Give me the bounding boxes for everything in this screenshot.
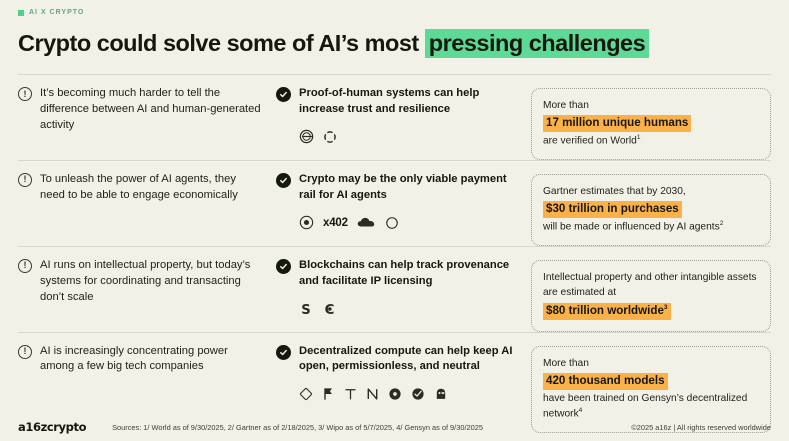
problem-cell: ! It’s becoming much harder to tell the … bbox=[18, 86, 276, 134]
eyebrow-dot-icon bbox=[18, 10, 24, 16]
eyebrow-label: AI X CRYPTO bbox=[29, 9, 84, 16]
infographic-page: AI X CRYPTO Crypto could solve some of A… bbox=[0, 0, 789, 441]
coinbase-icon bbox=[299, 215, 314, 230]
stat-footnote: 3 bbox=[664, 304, 668, 311]
stat-post-text: will be made or influenced by AI agents bbox=[543, 222, 720, 233]
stat-pre: Gartner estimates that by 2030, bbox=[543, 184, 759, 199]
table-row: ! AI runs on intellectual property, but … bbox=[18, 246, 771, 332]
svg-text:S: S bbox=[301, 303, 310, 317]
check-icon bbox=[276, 173, 291, 188]
logo-strip bbox=[299, 127, 521, 147]
table-row: ! To unleash the power of AI agents, the… bbox=[18, 160, 771, 246]
stat-cell: More than 17 million unique humans are v… bbox=[531, 86, 771, 160]
robot-icon bbox=[434, 387, 448, 401]
table-row: ! It’s becoming much harder to tell the … bbox=[18, 74, 771, 160]
stat-highlight-text: $80 trillion worldwide bbox=[546, 304, 664, 317]
problem-text: It’s becoming much harder to tell the di… bbox=[40, 86, 262, 134]
stat-highlight: $80 trillion worldwide3 bbox=[543, 303, 671, 320]
humanity-protocol-icon bbox=[323, 130, 337, 144]
table-row: ! AI is increasingly concentrating power… bbox=[18, 332, 771, 433]
solution-text: Decentralized compute can help keep AI o… bbox=[299, 344, 521, 376]
stat-card: Gartner estimates that by 2030, $30 tril… bbox=[531, 174, 771, 246]
solution-cell: Decentralized compute can help keep AI o… bbox=[276, 344, 531, 405]
solution-text: Proof-of-human systems can help increase… bbox=[299, 86, 521, 118]
copyright-note: ©2025 a16z | All rights reserved worldwi… bbox=[631, 423, 771, 432]
problem-cell: ! AI is increasingly concentrating power… bbox=[18, 344, 276, 376]
stat-highlight: $30 trillion in purchases bbox=[543, 201, 682, 218]
problem-cell: ! To unleash the power of AI agents, the… bbox=[18, 172, 276, 204]
solution-cell: Crypto may be the only viable payment ra… bbox=[276, 172, 531, 233]
stat-post-text: have been trained on Gensyn’s decentrali… bbox=[543, 393, 747, 420]
solution-cell: Blockchains can help track provenance an… bbox=[276, 258, 531, 319]
stat-card: More than 17 million unique humans are v… bbox=[531, 88, 771, 160]
headline-plain: Crypto could solve some of AI’s most bbox=[18, 30, 425, 56]
camp-network-icon: C bbox=[322, 301, 337, 317]
flag-icon bbox=[322, 387, 335, 401]
alert-icon: ! bbox=[18, 345, 32, 359]
footer: a16zcrypto Sources: 1/ World as of 9/30/… bbox=[18, 420, 771, 434]
stat-post: are verified on World1 bbox=[543, 133, 759, 149]
rows-container: ! It’s becoming much harder to tell the … bbox=[18, 74, 771, 433]
stat-cell: Intellectual property and other intangib… bbox=[531, 258, 771, 332]
solution-text: Blockchains can help track provenance an… bbox=[299, 258, 521, 290]
problem-text: AI is increasingly concentrating power a… bbox=[40, 344, 262, 376]
problem-text: To unleash the power of AI agents, they … bbox=[40, 172, 262, 204]
check-circle-icon bbox=[411, 387, 425, 401]
check-icon bbox=[276, 259, 291, 274]
target-icon bbox=[388, 387, 402, 401]
stat-pre: Intellectual property and other intangib… bbox=[543, 270, 759, 301]
stat-footnote: 4 bbox=[579, 407, 583, 414]
stat-card: Intellectual property and other intangib… bbox=[531, 260, 771, 332]
cloudflare-icon bbox=[357, 216, 376, 229]
eyebrow: AI X CRYPTO bbox=[18, 0, 771, 16]
brand-logo: a16zcrypto bbox=[18, 420, 86, 434]
solution-cell: Proof-of-human systems can help increase… bbox=[276, 86, 531, 147]
check-icon bbox=[276, 87, 291, 102]
logo-strip bbox=[299, 384, 521, 404]
stat-post-text: are verified on World bbox=[543, 136, 637, 147]
check-icon bbox=[276, 345, 291, 360]
stat-cell: Gartner estimates that by 2030, $30 tril… bbox=[531, 172, 771, 246]
solution-text: Crypto may be the only viable payment ra… bbox=[299, 172, 521, 204]
diamond-icon bbox=[299, 387, 313, 401]
nous-icon bbox=[366, 387, 379, 401]
alert-icon: ! bbox=[18, 87, 32, 101]
skyfire-icon bbox=[385, 216, 399, 230]
x402-wordmark: x402 bbox=[323, 217, 348, 229]
stat-footnote: 2 bbox=[720, 220, 724, 227]
stat-highlight: 420 thousand models bbox=[543, 373, 668, 390]
stat-pre: More than bbox=[543, 98, 759, 113]
page-title: Crypto could solve some of AI’s most pre… bbox=[18, 30, 771, 57]
stat-pre: More than bbox=[543, 356, 759, 371]
stat-post: have been trained on Gensyn’s decentrali… bbox=[543, 391, 759, 422]
alert-icon: ! bbox=[18, 259, 32, 273]
alert-icon: ! bbox=[18, 173, 32, 187]
logo-strip: S C bbox=[299, 299, 521, 319]
stat-highlight: 17 million unique humans bbox=[543, 115, 691, 132]
stat-post: will be made or influenced by AI agents2 bbox=[543, 219, 759, 235]
story-protocol-icon: S bbox=[299, 301, 313, 317]
headline-highlight: pressing challenges bbox=[425, 29, 649, 58]
stat-footnote: 1 bbox=[637, 134, 641, 141]
tensor-icon bbox=[344, 387, 357, 401]
logo-strip: x402 bbox=[299, 213, 521, 233]
world-id-icon bbox=[299, 129, 314, 144]
sources-note: Sources: 1/ World as of 9/30/2025, 2/ Ga… bbox=[112, 423, 483, 432]
problem-text: AI runs on intellectual property, but to… bbox=[40, 258, 262, 306]
problem-cell: ! AI runs on intellectual property, but … bbox=[18, 258, 276, 306]
